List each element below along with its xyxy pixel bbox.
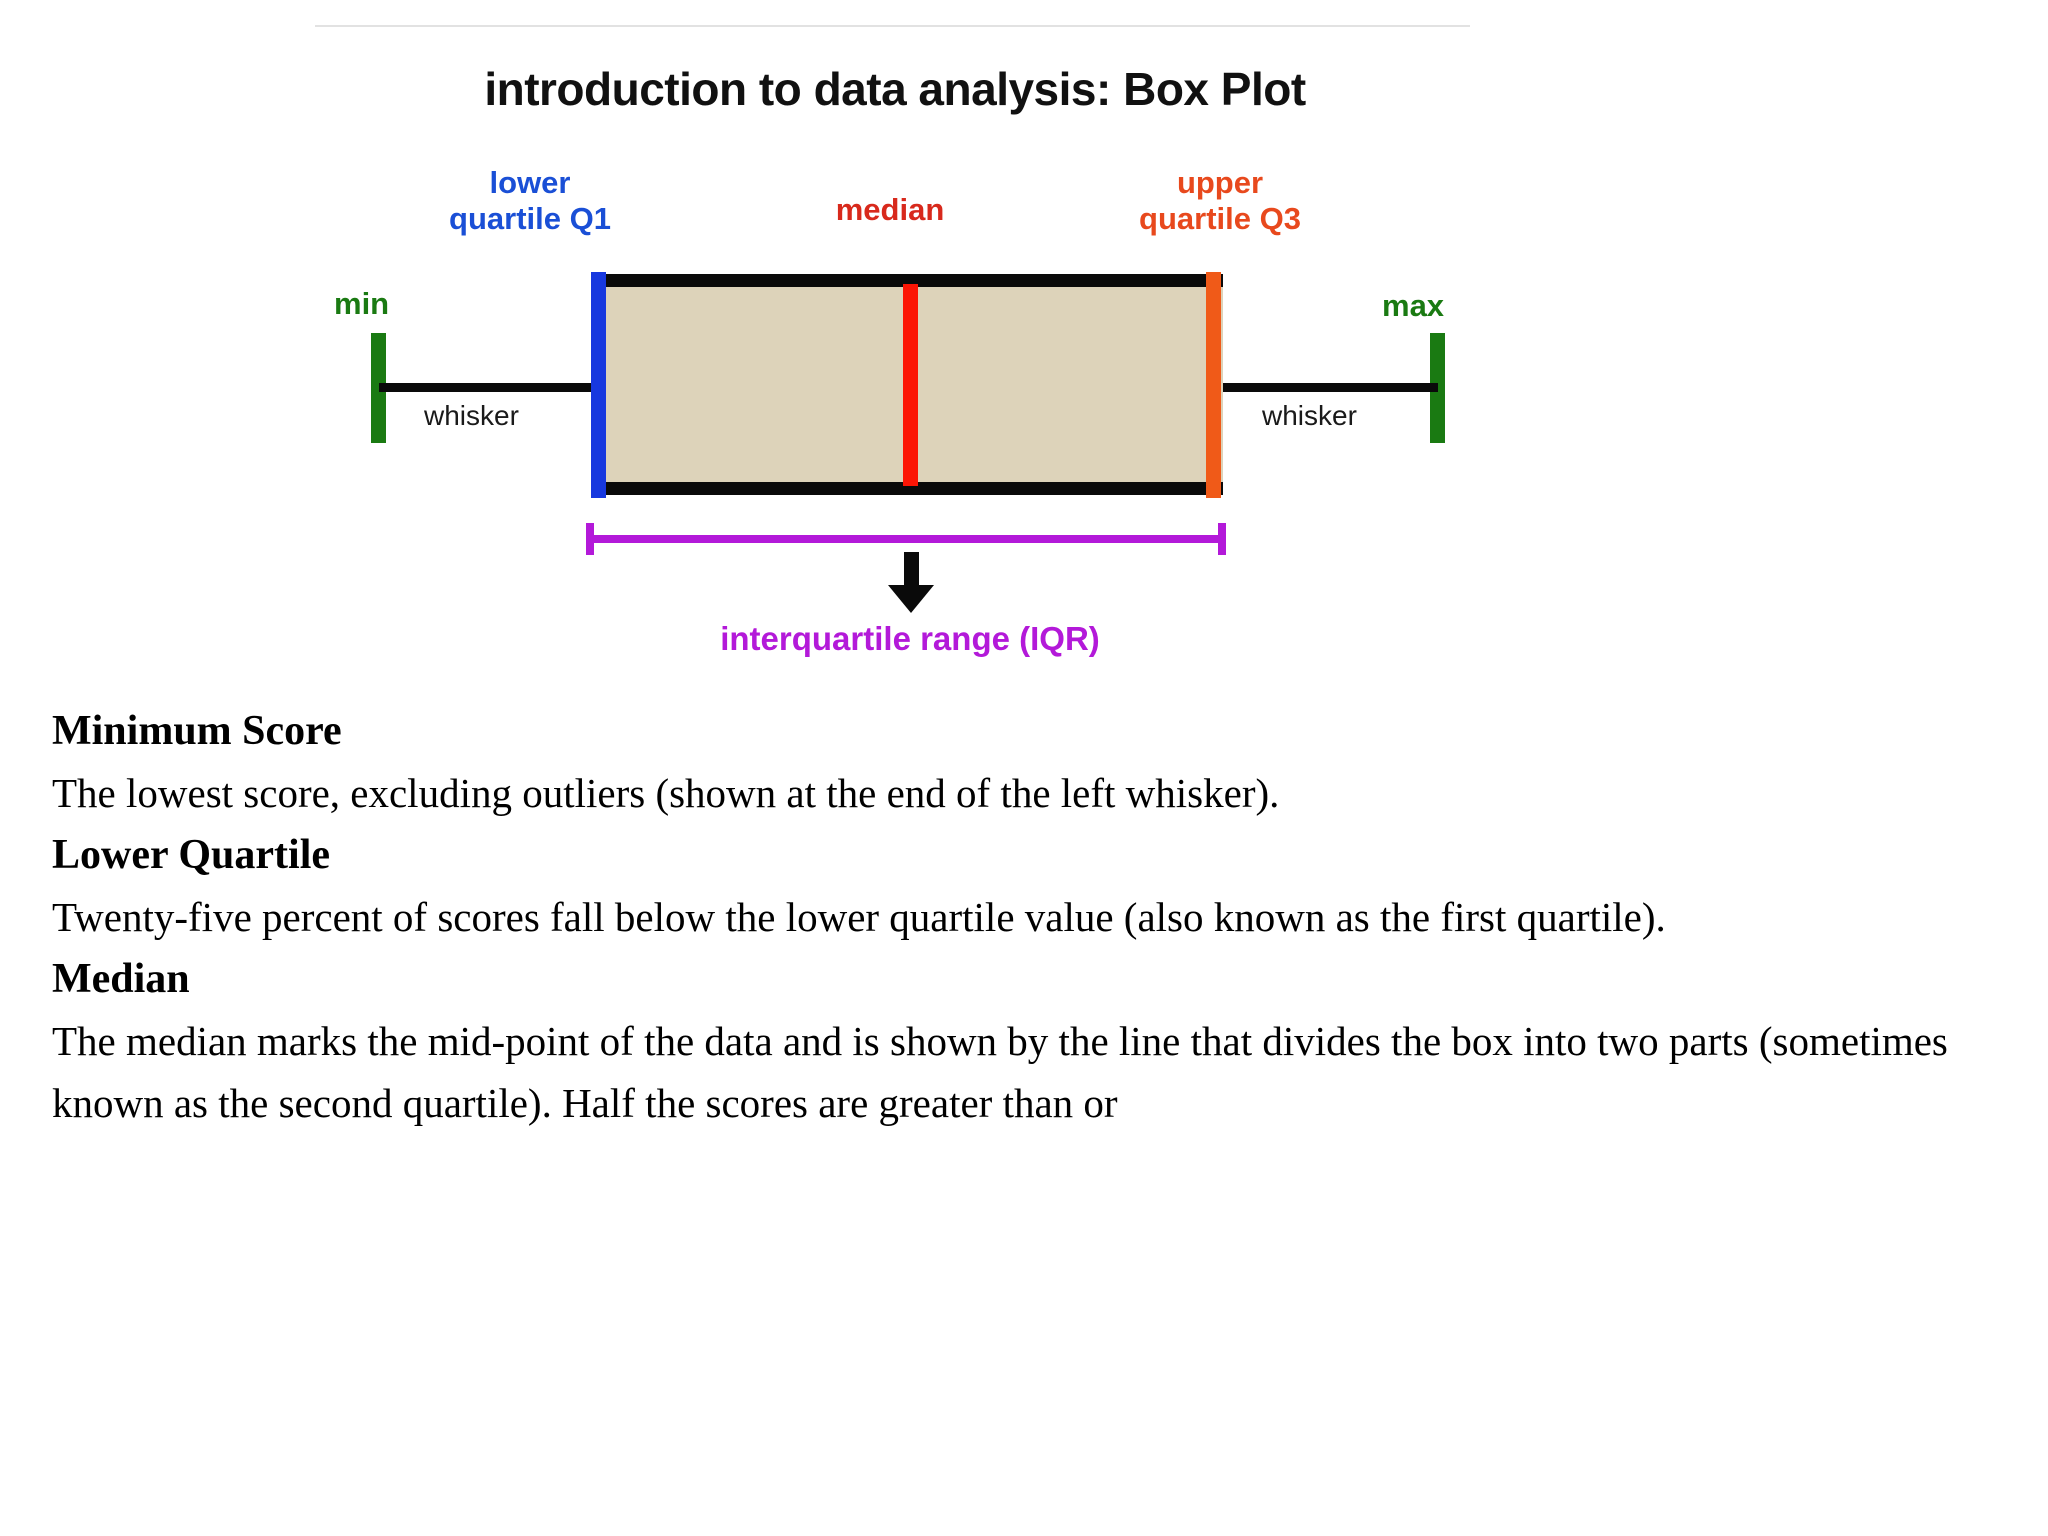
- figure-top-divider: [315, 25, 1470, 27]
- whisker-right-label: whisker: [1262, 400, 1357, 432]
- iqr-label: interquartile range (IQR): [580, 620, 1240, 658]
- figure-title: introduction to data analysis: Box Plot: [315, 62, 1475, 116]
- whisker-left-label: whisker: [424, 400, 519, 432]
- section-heading-median: Median: [52, 948, 2012, 1010]
- lower-quartile-label-line2: quartile Q1: [380, 201, 680, 237]
- whisker-left-line: [379, 383, 601, 392]
- section-heading-minimum-score: Minimum Score: [52, 700, 2012, 762]
- median-line: [903, 284, 918, 486]
- section-heading-lower-quartile: Lower Quartile: [52, 824, 2012, 886]
- upper-quartile-label: upper quartile Q3: [1060, 165, 1380, 237]
- max-label: max: [1382, 288, 1444, 324]
- box-plot-figure: introduction to data analysis: Box Plot …: [0, 0, 2048, 690]
- lower-quartile-label: lower quartile Q1: [380, 165, 680, 237]
- iqr-bracket-tick-left: [586, 523, 594, 555]
- upper-quartile-edge: [1206, 272, 1221, 498]
- lower-quartile-edge: [591, 272, 606, 498]
- whisker-right-line: [1216, 383, 1438, 392]
- down-arrow-icon: [888, 552, 934, 612]
- median-label: median: [760, 192, 1020, 228]
- lower-quartile-label-line1: lower: [380, 165, 680, 201]
- median-label-text: median: [760, 192, 1020, 228]
- section-text-lower-quartile: Twenty-five percent of scores fall below…: [52, 886, 2007, 948]
- article-body: Minimum Score The lowest score, excludin…: [52, 700, 2012, 1134]
- upper-quartile-label-line2: quartile Q3: [1060, 201, 1380, 237]
- iqr-bracket-bar: [586, 535, 1226, 543]
- section-text-minimum-score: The lowest score, excluding outliers (sh…: [52, 762, 2007, 824]
- upper-quartile-label-line1: upper: [1060, 165, 1380, 201]
- min-label: min: [334, 286, 389, 322]
- section-text-median: The median marks the mid-point of the da…: [52, 1010, 2007, 1134]
- iqr-bracket-tick-right: [1218, 523, 1226, 555]
